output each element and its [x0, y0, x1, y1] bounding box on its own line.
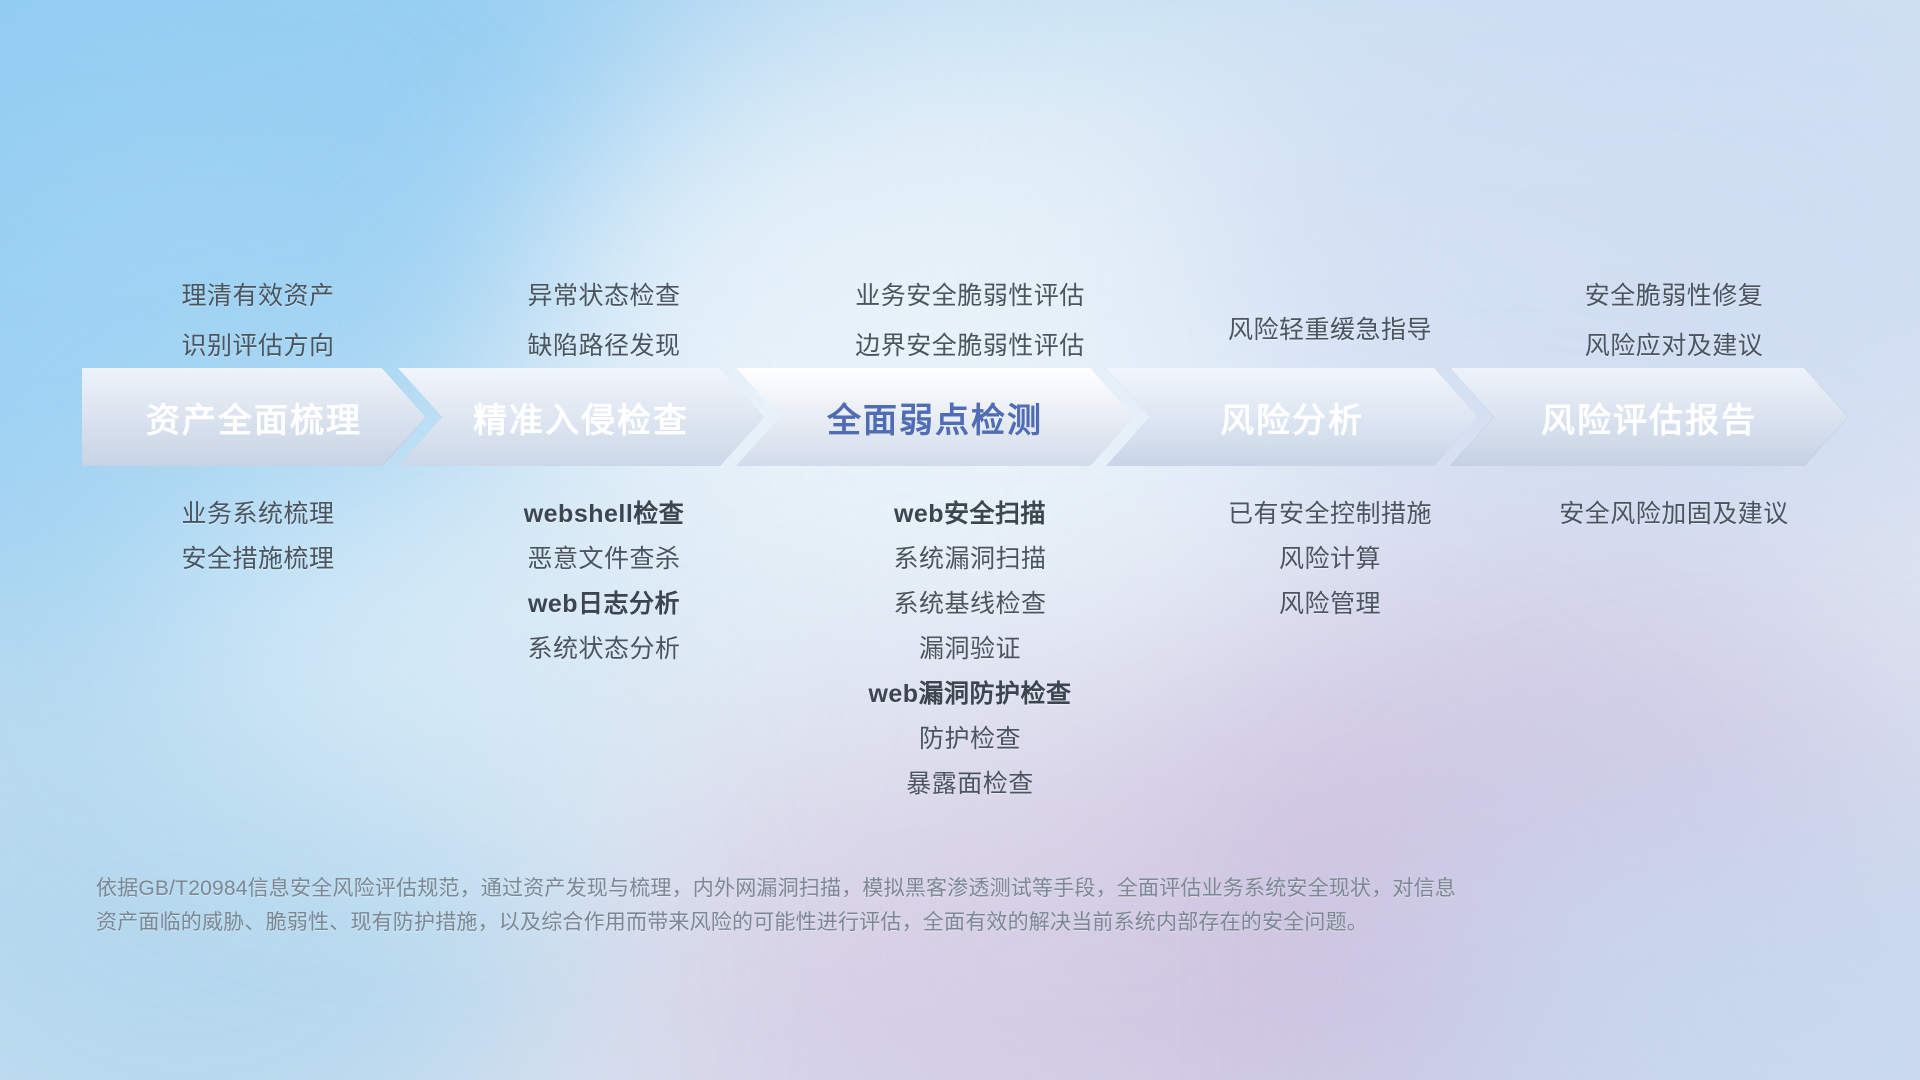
- chevron-intrusion-check[interactable]: 精准入侵检查: [398, 368, 764, 466]
- chevron-label: 风险评估报告: [1541, 393, 1757, 442]
- bottom-item: 安全措施梳理: [181, 545, 334, 573]
- top-items-asset-inventory: 理清有效资产 识别评估方向: [88, 282, 428, 360]
- bottom-items-risk-analysis: 已有安全控制措施 风险计算 风险管理: [1160, 500, 1500, 618]
- chevron-risk-analysis[interactable]: 风险分析: [1106, 368, 1478, 466]
- top-items-weakness-detection: 业务安全脆弱性评估 边界安全脆弱性评估: [780, 282, 1160, 360]
- bottom-item: webshell检查: [524, 500, 685, 528]
- bottom-item: web日志分析: [528, 590, 680, 618]
- chevron-weakness-detection[interactable]: 全面弱点检测: [736, 368, 1134, 466]
- bottom-item: 系统基线检查: [893, 590, 1046, 618]
- bottom-item: web安全扫描: [894, 500, 1046, 528]
- bottom-items-intrusion-check: webshell检查 恶意文件查杀 web日志分析 系统状态分析: [428, 500, 780, 663]
- footer-description: 依据GB/T20984信息安全风险评估规范，通过资产发现与梳理，内外网漏洞扫描，…: [96, 872, 1656, 940]
- bottom-item: 系统漏洞扫描: [893, 545, 1046, 573]
- chevron-label: 全面弱点检测: [827, 393, 1043, 442]
- bottom-item: 业务系统梳理: [181, 500, 334, 528]
- bottom-items-weakness-detection: web安全扫描 系统漏洞扫描 系统基线检查 漏洞验证 web漏洞防护检查 防护检…: [780, 500, 1160, 798]
- bottom-item: 已有安全控制措施: [1228, 500, 1432, 528]
- top-item: 风险轻重缓急指导: [1228, 316, 1432, 344]
- bottom-item: 防护检查: [919, 725, 1021, 753]
- bottom-item: 恶意文件查杀: [527, 545, 680, 573]
- bottom-item: 安全风险加固及建议: [1559, 500, 1789, 528]
- chevron-label: 资产全面梳理: [146, 393, 362, 442]
- top-items-risk-report: 安全脆弱性修复 风险应对及建议: [1500, 282, 1848, 360]
- chevron-asset-inventory[interactable]: 资产全面梳理: [82, 368, 426, 466]
- top-item: 业务安全脆弱性评估: [855, 282, 1085, 310]
- bottom-item: 系统状态分析: [527, 635, 680, 663]
- bottom-item: 风险计算: [1279, 545, 1381, 573]
- bottom-item: 风险管理: [1279, 590, 1381, 618]
- bottom-items-risk-report: 安全风险加固及建议: [1500, 500, 1848, 528]
- top-item: 识别评估方向: [181, 332, 334, 360]
- footer-line: 资产面临的威胁、脆弱性、现有防护措施，以及综合作用而带来风险的可能性进行评估，全…: [96, 906, 1656, 940]
- bottom-item: 暴露面检查: [906, 770, 1034, 798]
- top-item: 安全脆弱性修复: [1585, 282, 1764, 310]
- top-item: 边界安全脆弱性评估: [855, 332, 1085, 360]
- chevron-label: 风险分析: [1220, 393, 1364, 442]
- top-item: 风险应对及建议: [1585, 332, 1764, 360]
- process-chevron-banner: 资产全面梳理 精准入侵检查 全面弱点检测 风险分析 风险评估报告: [82, 368, 1848, 466]
- top-item: 理清有效资产: [181, 282, 334, 310]
- top-item: 缺陷路径发现: [527, 332, 680, 360]
- chevron-risk-report[interactable]: 风险评估报告: [1450, 368, 1848, 466]
- top-items-risk-analysis: 风险轻重缓急指导: [1160, 316, 1500, 344]
- top-items-intrusion-check: 异常状态检查 缺陷路径发现: [428, 282, 780, 360]
- top-item: 异常状态检查: [527, 282, 680, 310]
- bottom-item: web漏洞防护检查: [868, 680, 1071, 708]
- slide-canvas: 理清有效资产 识别评估方向 业务系统梳理 安全措施梳理 异常状态检查 缺陷路径发…: [0, 0, 1920, 1080]
- bottom-item: 漏洞验证: [919, 635, 1021, 663]
- footer-line: 依据GB/T20984信息安全风险评估规范，通过资产发现与梳理，内外网漏洞扫描，…: [96, 872, 1656, 906]
- chevron-label: 精准入侵检查: [473, 393, 689, 442]
- bottom-items-asset-inventory: 业务系统梳理 安全措施梳理: [88, 500, 428, 573]
